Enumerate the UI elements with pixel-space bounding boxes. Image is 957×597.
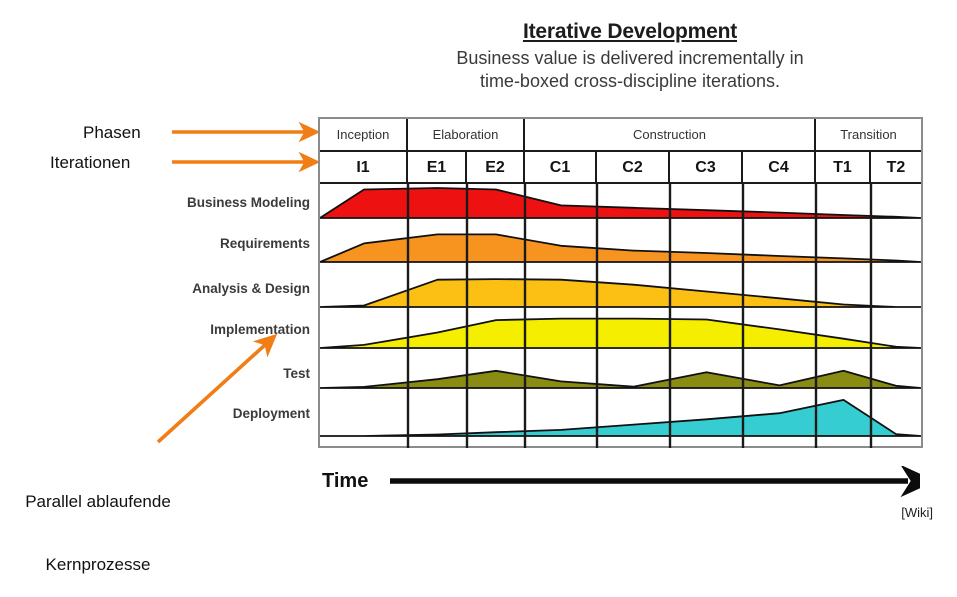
iteration-header-row: I1 E1 E2 C1 C2 C3 C4 T1 T2: [320, 150, 921, 184]
hump-requirements: [320, 234, 921, 262]
iteration-cell-i1: I1: [320, 152, 408, 184]
discipline-label-analysis-design: Analysis & Design: [150, 281, 310, 296]
discipline-label-deployment: Deployment: [150, 406, 310, 421]
iteration-cell-t2: T2: [871, 152, 921, 184]
page-title: Iterative Development: [330, 20, 930, 44]
title-block: Iterative Development Business value is …: [330, 20, 930, 93]
subtitle-line-1: Business value is delivered incrementall…: [330, 47, 930, 70]
page-subtitle: Business value is delivered incrementall…: [330, 47, 930, 93]
subtitle-line-2: time-boxed cross-discipline iterations.: [330, 70, 930, 93]
discipline-label-requirements: Requirements: [150, 236, 310, 251]
phase-cell-transition: Transition: [816, 119, 921, 150]
discipline-label-test: Test: [150, 366, 310, 381]
iteration-cell-c1: C1: [525, 152, 597, 184]
iteration-cell-t1: T1: [816, 152, 871, 184]
annotation-iterations-label: Iterationen: [50, 152, 130, 173]
iterative-development-chart: Inception Elaboration Construction Trans…: [318, 117, 923, 448]
phase-cell-construction: Construction: [525, 119, 816, 150]
time-arrow: [390, 466, 920, 498]
hump-business-modeling: [320, 188, 921, 218]
hump-test: [320, 371, 921, 388]
discipline-label-implementation: Implementation: [150, 322, 310, 337]
chart-plot-area: [320, 182, 921, 448]
discipline-humps: [320, 184, 921, 448]
iteration-cell-c3: C3: [670, 152, 743, 184]
time-axis: Time: [322, 466, 922, 500]
hump-analysis-design: [320, 279, 921, 307]
iteration-cell-e1: E1: [408, 152, 467, 184]
hump-implementation: [320, 319, 921, 348]
chart-header: Inception Elaboration Construction Trans…: [320, 119, 921, 182]
iteration-cell-e2: E2: [467, 152, 525, 184]
phase-cell-elaboration: Elaboration: [408, 119, 525, 150]
phase-header-row: Inception Elaboration Construction Trans…: [320, 119, 921, 150]
iteration-cell-c2: C2: [597, 152, 670, 184]
annotation-phases-label: Phasen: [83, 122, 141, 143]
phase-cell-inception: Inception: [320, 119, 408, 150]
iteration-cell-c4: C4: [743, 152, 816, 184]
discipline-labels: Business Modeling Requirements Analysis …: [148, 0, 310, 549]
annotation-parallel-line-2: Kernprozesse: [2, 554, 194, 575]
hump-group: [320, 188, 921, 436]
hump-deployment: [320, 400, 921, 436]
discipline-label-business-modeling: Business Modeling: [150, 195, 310, 210]
time-axis-label: Time: [322, 470, 368, 493]
source-citation: [Wiki]: [901, 505, 933, 520]
